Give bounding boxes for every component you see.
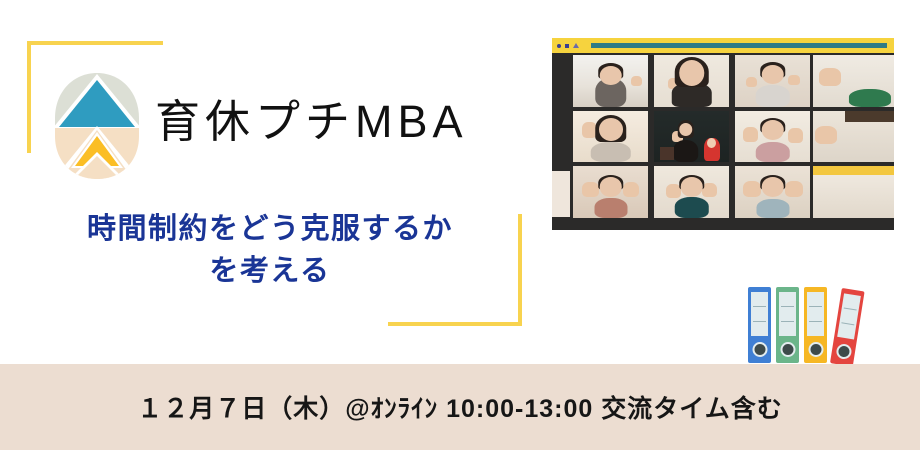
grid-gutter [552, 220, 570, 230]
event-date-text: １２月７日（木）@ｵﾝﾗｲﾝ 10:00-13:00 交流タイム含む [137, 389, 782, 425]
participant-face [679, 60, 705, 86]
video-conference-screenshot [552, 38, 894, 230]
participant-face [599, 118, 623, 141]
grid-gutter [552, 109, 570, 165]
participant-body [674, 197, 709, 218]
participant-tile [813, 111, 894, 163]
grid-gutter [570, 220, 651, 230]
binder-red [830, 288, 865, 367]
raised-hand [788, 128, 803, 142]
participant-tile-grid [552, 53, 894, 230]
poster-canvas: 育休プチMBA 時間制約をどう克服するか を考える [0, 0, 920, 450]
participant-body [755, 85, 790, 107]
tile-edge-sliver [552, 171, 570, 217]
square-icon [565, 44, 569, 48]
bracket-horizontal-line [27, 41, 163, 45]
raised-hand [582, 182, 599, 198]
participant-face [679, 123, 693, 136]
shelf [845, 111, 894, 122]
event-date-banner: １２月７日（木）@ｵﾝﾗｲﾝ 10:00-13:00 交流タイム含む [0, 364, 920, 450]
subtitle-line-2: を考える [30, 250, 510, 292]
participant-tile [654, 55, 729, 107]
grid-gutter [732, 220, 813, 230]
bracket-vertical-line [518, 214, 522, 326]
label-rule [781, 321, 794, 322]
binder-yellow [804, 287, 827, 363]
binder-ring-hole [780, 342, 795, 357]
bracket-horizontal-line [388, 322, 522, 326]
participant-body [590, 142, 631, 163]
grid-gutter [552, 53, 570, 109]
participant-face [761, 177, 784, 197]
participant-tile [654, 111, 729, 163]
participant-tile [735, 166, 810, 218]
label-rule [753, 321, 766, 322]
dot-icon [557, 44, 561, 48]
raised-hand [743, 181, 761, 198]
binder-label [807, 292, 824, 336]
participant-body [673, 140, 699, 163]
label-rule [809, 306, 822, 307]
brand-title: 育休プチMBA [155, 92, 468, 152]
participant-tile [813, 166, 894, 218]
raised-hand [631, 76, 642, 86]
triangle-icon [573, 43, 579, 48]
participant-body [594, 198, 627, 218]
participant-face [761, 120, 784, 140]
binders-illustration [748, 281, 860, 363]
raised-hand [819, 68, 840, 86]
participant-face [680, 177, 703, 197]
grid-gutter [813, 220, 894, 230]
label-rule [841, 322, 854, 325]
participant-tile [735, 111, 810, 163]
raised-hand [746, 77, 757, 87]
participant-body [755, 142, 790, 163]
poster-subtitle: 時間制約をどう克服するか を考える [30, 208, 510, 292]
binder-ring-hole [835, 343, 852, 360]
participant-tile [573, 166, 648, 218]
binder-green [776, 287, 799, 363]
subtitle-line-1: 時間制約をどう克服するか [30, 208, 510, 250]
label-rule [781, 306, 794, 307]
brand-logo-icon [53, 72, 141, 180]
browser-toolbar [552, 38, 894, 53]
bracket-vertical-line [27, 41, 31, 153]
binder-ring-hole [752, 342, 767, 357]
binder-ring-hole [808, 342, 823, 357]
participant-tile [573, 55, 648, 107]
label-rule [844, 307, 857, 310]
participant-tile [813, 55, 894, 107]
raised-hand [788, 75, 799, 85]
participant-body [756, 199, 789, 218]
raised-hand [702, 183, 717, 197]
raised-hand [785, 181, 803, 198]
binder-label [779, 292, 796, 336]
participant-face [599, 177, 622, 197]
raised-hand [815, 126, 838, 144]
tile-accent [813, 166, 894, 174]
participant-face [599, 66, 622, 86]
binder-label [837, 293, 861, 339]
participant-face [761, 65, 784, 85]
furniture [660, 147, 674, 160]
binder-blue [748, 287, 771, 363]
participant-tile [654, 166, 729, 218]
raised-hand [623, 182, 640, 198]
label-rule [753, 306, 766, 307]
address-bar [591, 43, 887, 48]
participant-tile [573, 111, 648, 163]
binder-label [751, 292, 768, 336]
baby-face [707, 138, 716, 148]
label-rule [809, 321, 822, 322]
participant-tile [735, 55, 810, 107]
grid-gutter [651, 220, 732, 230]
raised-hand [743, 127, 758, 141]
participant-body [849, 89, 891, 107]
